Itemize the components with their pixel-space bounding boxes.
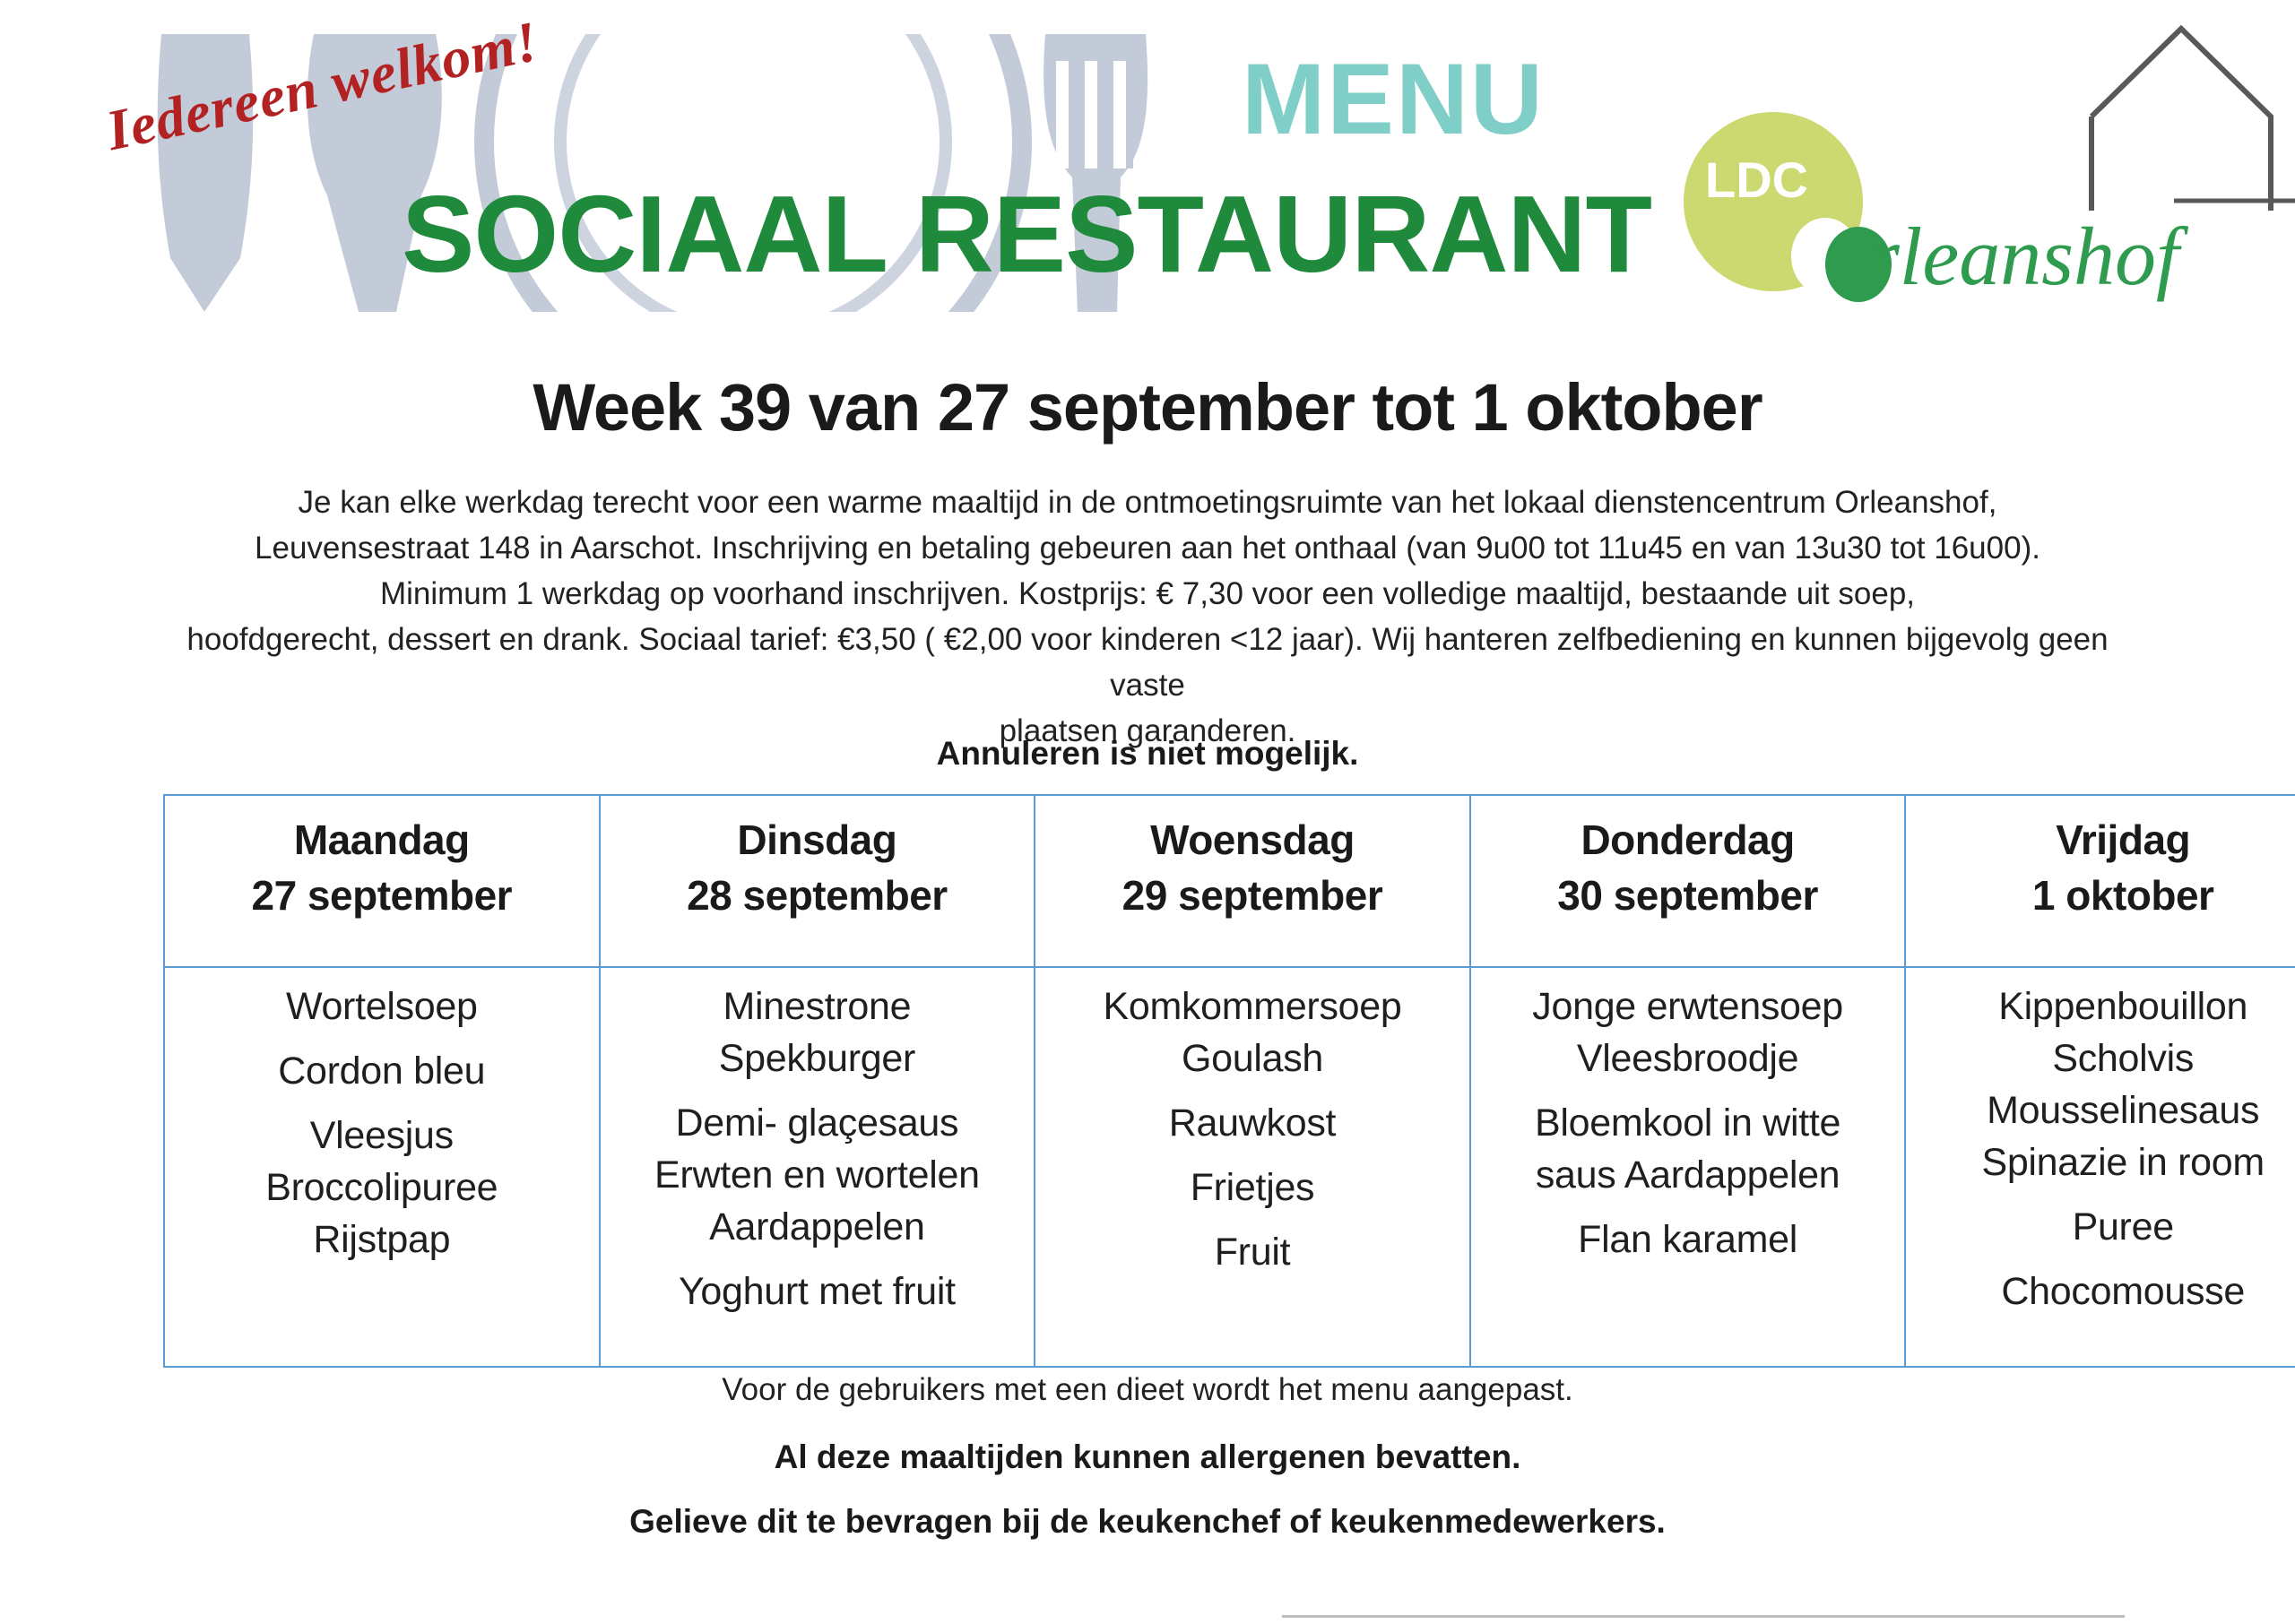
- menu-cell-friday: KippenbouillonScholvisMousselinesausSpin…: [1905, 967, 2295, 1367]
- dish-spacer: [1044, 1084, 1460, 1097]
- ask-kitchen-note: Gelieve dit te bevragen bij de keukenche…: [0, 1503, 2295, 1541]
- day-header-tuesday: Dinsdag 28 september: [600, 795, 1035, 967]
- dish-item: Flan karamel: [1480, 1214, 1896, 1266]
- dish-item: Scholvis: [1915, 1032, 2295, 1084]
- intro-line-2: Leuvensestraat 148 in Aarschot. Inschrij…: [152, 525, 2143, 571]
- dish-item: Minestrone: [610, 980, 1026, 1032]
- dish-item: Rauwkost: [1044, 1097, 1460, 1149]
- dish-item: Cordon bleu: [174, 1045, 590, 1097]
- day-header-wednesday: Woensdag 29 september: [1035, 795, 1470, 967]
- menu-cell-monday: WortelsoepCordon bleuVleesjusBroccolipur…: [164, 967, 600, 1367]
- ldc-abbreviation: LDC: [1705, 155, 1808, 205]
- dish-spacer: [1044, 1214, 1460, 1226]
- dish-spacer: [174, 1097, 590, 1110]
- dish-item: Wortelsoep: [174, 980, 590, 1032]
- day-name: Woensdag: [1041, 812, 1464, 868]
- day-name: Vrijdag: [1911, 812, 2295, 868]
- dish-item: Yoghurt met fruit: [610, 1266, 1026, 1317]
- dish-spacer: [610, 1253, 1026, 1266]
- day-date: 27 september: [170, 868, 593, 923]
- day-date: 28 september: [606, 868, 1029, 923]
- scan-artifact-line: [1282, 1615, 2125, 1618]
- day-header-monday: Maandag 27 september: [164, 795, 600, 967]
- intro-line-3: Minimum 1 werkdag op voorhand inschrijve…: [152, 571, 2143, 617]
- dish-item: Vleesbroodje: [1480, 1032, 1896, 1084]
- dish-item: Goulash: [1044, 1032, 1460, 1084]
- dish-item: Spinazie in room: [1915, 1136, 2295, 1188]
- dish-item: Bloemkool in witte: [1480, 1097, 1896, 1149]
- dish-item: Komkommersoep: [1044, 980, 1460, 1032]
- weekly-menu-table: Maandag 27 september Dinsdag 28 septembe…: [163, 794, 2295, 1368]
- dish-item: Broccolipuree: [174, 1162, 590, 1214]
- dish-item: Demi- glaçesaus: [610, 1097, 1026, 1149]
- dish-item: Puree: [1915, 1201, 2295, 1253]
- dish-spacer: [610, 1084, 1026, 1097]
- day-date: 1 oktober: [1911, 868, 2295, 923]
- day-name: Maandag: [170, 812, 593, 868]
- intro-paragraph: Je kan elke werkdag terecht voor een war…: [152, 479, 2143, 754]
- dish-item: Chocomousse: [1915, 1266, 2295, 1317]
- day-header-thursday: Donderdag 30 september: [1470, 795, 1906, 967]
- table-header-row: Maandag 27 september Dinsdag 28 septembe…: [164, 795, 2295, 967]
- dish-spacer: [1915, 1188, 2295, 1201]
- dish-item: Vleesjus: [174, 1110, 590, 1162]
- no-cancellation-notice: Annuleren is niet mogelijk.: [0, 735, 2295, 773]
- day-date: 29 september: [1041, 868, 1464, 923]
- restaurant-title: SOCIAAL RESTAURANT: [402, 179, 1651, 289]
- orleanshof-wordmark: rleanshof: [1867, 215, 2179, 298]
- dish-spacer: [1044, 1149, 1460, 1162]
- dish-item: saus Aardappelen: [1480, 1149, 1896, 1201]
- dish-spacer: [1480, 1201, 1896, 1214]
- day-header-friday: Vrijdag 1 oktober: [1905, 795, 2295, 967]
- menu-cell-thursday: Jonge erwtensoepVleesbroodjeBloemkool in…: [1470, 967, 1906, 1367]
- footer-notes: Voor de gebruikers met een dieet wordt h…: [0, 1367, 2295, 1541]
- menu-word: MENU: [1242, 49, 1545, 150]
- dish-spacer: [174, 1032, 590, 1045]
- dish-item: Jonge erwtensoep: [1480, 980, 1896, 1032]
- dish-item: Rijstpap: [174, 1214, 590, 1266]
- dish-item: Frietjes: [1044, 1162, 1460, 1214]
- dish-item: Aardappelen: [610, 1201, 1026, 1253]
- dish-item: Spekburger: [610, 1032, 1026, 1084]
- dish-item: Fruit: [1044, 1226, 1460, 1278]
- intro-line-1: Je kan elke werkdag terecht voor een war…: [152, 479, 2143, 525]
- allergen-note: Al deze maaltijden kunnen allergenen bev…: [0, 1438, 2295, 1476]
- day-name: Donderdag: [1477, 812, 1900, 868]
- house-outline-icon: [2084, 9, 2295, 211]
- intro-line-4: hoofdgerecht, dessert en drank. Sociaal …: [152, 617, 2143, 708]
- dish-item: Erwten en wortelen: [610, 1149, 1026, 1201]
- day-date: 30 september: [1477, 868, 1900, 923]
- menu-cell-tuesday: MinestroneSpekburgerDemi- glaçesausErwte…: [600, 967, 1035, 1367]
- dish-spacer: [1915, 1253, 2295, 1266]
- day-name: Dinsdag: [606, 812, 1029, 868]
- page-title: Week 39 van 27 september tot 1 oktober: [0, 369, 2295, 445]
- table-row-dishes: WortelsoepCordon bleuVleesjusBroccolipur…: [164, 967, 2295, 1367]
- dish-item: Mousselinesaus: [1915, 1084, 2295, 1136]
- header-banner: Iedereen welkom! MENU SOCIAAL RESTAURANT…: [0, 0, 2295, 333]
- menu-cell-wednesday: KomkommersoepGoulashRauwkostFrietjesFrui…: [1035, 967, 1470, 1367]
- diet-note: Voor de gebruikers met een dieet wordt h…: [0, 1367, 2295, 1413]
- dish-spacer: [1480, 1084, 1896, 1097]
- dish-item: Kippenbouillon: [1915, 980, 2295, 1032]
